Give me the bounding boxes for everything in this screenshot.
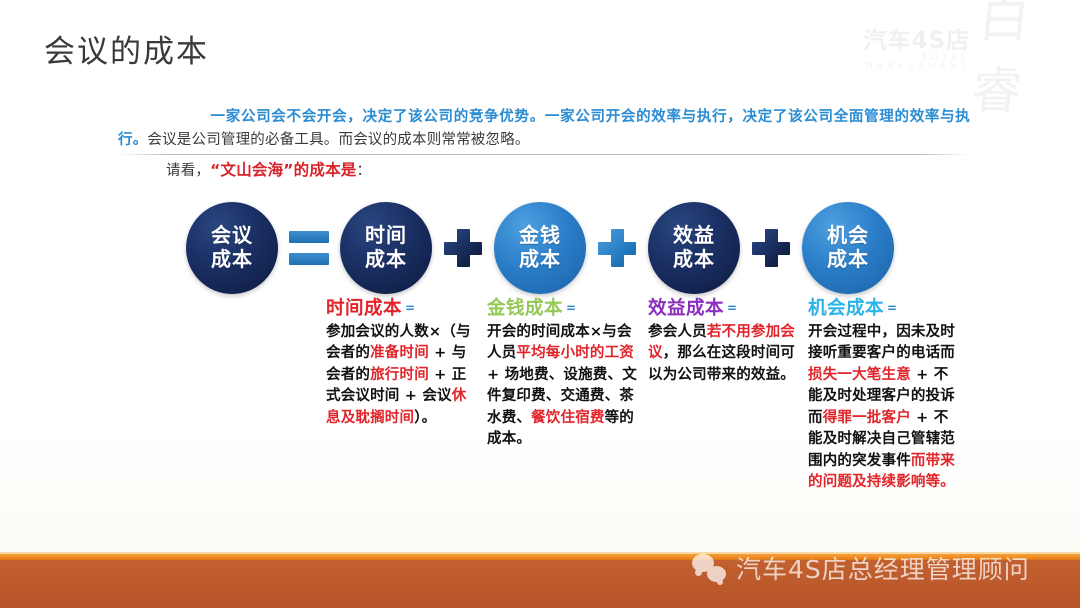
circle-benefit-cost[interactable]: 效益 成本 [648,202,740,294]
column-opportunity-cost-equals: = [887,301,898,315]
circle-meeting-cost[interactable]: 会议 成本 [186,202,278,294]
intro-highlight-1: 一家公司会不会开会，决定了该公司的竞争优势。一家公司开会的效率与执行，决定了 [210,109,788,125]
circle-money-cost-line2: 成本 [519,248,561,272]
column-benefit-cost-body: 参会人员若不用参加会议，那么在这段时间可以为公司带来的效益。 [648,324,795,383]
circle-opportunity-cost-line2: 成本 [827,248,869,272]
plus-sign-2 [586,202,648,294]
column-segment: 得罪一批客户 [823,410,911,426]
column-money-cost-heading-text: 金钱成本 [487,298,563,319]
circle-opportunity-cost[interactable]: 机会 成本 [802,202,894,294]
column-segment: ）。 [414,410,436,426]
intro-plain-1: 会议是公司管理的必备工具。而会议的成本则常常被忽略。 [147,132,529,148]
column-money-cost-heading: 金钱成本= [487,298,639,320]
intro-line-2: 请看，“文山会海”的成本是： [118,159,970,183]
equals-icon [289,231,329,265]
column-opportunity-cost-heading: 机会成本= [808,298,960,320]
intro-line2-lead: 请看， [166,163,210,179]
plus-sign-3 [740,202,802,294]
cost-equation-row: 会议 成本 时间 成本 金钱 成本 效益 成本 机会 成本 [0,196,1080,300]
column-benefit-cost-heading: 效益成本= [648,298,800,320]
footer-band [0,560,1080,608]
circle-meeting-cost-line1: 会议 [211,224,253,248]
intro-line2-quote: “文山会海”的成本是 [210,161,356,179]
circle-money-cost-line1: 金钱 [519,224,561,248]
circle-opportunity-cost-line1: 机会 [827,224,869,248]
plus-sign-1 [432,202,494,294]
column-segment: 参会人员 [648,324,707,340]
intro-paragraph: 一家公司会不会开会，决定了该公司的竞争优势。一家公司开会的效率与执行，决定了该公… [118,106,970,183]
column-opportunity-cost: 机会成本= 开会过程中，因未及时接听重要客户的电话而损失一大笔生意 + 不能及时… [808,298,960,494]
intro-divider [118,154,970,155]
column-money-cost-equals: = [566,301,577,315]
plus-icon-1 [444,229,482,267]
column-benefit-cost-equals: = [727,301,738,315]
circle-time-cost-line2: 成本 [365,248,407,272]
column-segment: 平均每小时的工资 [516,345,634,361]
plus-icon-2 [598,229,636,267]
column-segment: 旅行时间 [370,367,429,383]
brand-watermark-sub: TOTAL MANAGEMENT [822,54,970,73]
column-opportunity-cost-heading-text: 机会成本 [808,298,884,319]
column-time-cost-heading-text: 时间成本 [326,298,402,319]
circle-money-cost[interactable]: 金钱 成本 [494,202,586,294]
slide-root: 会议的成本 汽车4S店 TOTAL MANAGEMENT 白睿 一家公司会不会开… [0,0,1080,608]
circle-time-cost-line1: 时间 [365,224,407,248]
column-time-cost-equals: = [405,301,416,315]
circle-time-cost[interactable]: 时间 成本 [340,202,432,294]
column-opportunity-cost-body: 开会过程中，因未及时接听重要客户的电话而损失一大笔生意 + 不能及时处理客户的投… [808,324,955,491]
circle-benefit-cost-line1: 效益 [673,224,715,248]
cost-detail-columns: 时间成本= 参加会议的人数×（与会者的准备时间 + 与会者的旅行时间 + 正式会… [0,298,1080,578]
circle-meeting-cost-line2: 成本 [211,248,253,272]
column-segment: 准备时间 [370,345,429,361]
column-time-cost-heading: 时间成本= [326,298,478,320]
column-money-cost: 金钱成本= 开会的时间成本×与会人员平均每小时的工资 + 场地费、设施费、文件复… [487,298,639,451]
column-segment: 餐饮住宿费 [531,410,605,426]
column-money-cost-body: 开会的时间成本×与会人员平均每小时的工资 + 场地费、设施费、文件复印费、交通费… [487,324,637,448]
brand-watermark: 汽车4S店 TOTAL MANAGEMENT 白睿 [822,12,1072,90]
plus-icon-3 [752,229,790,267]
brand-watermark-calligraphy: 白睿 [968,0,1079,123]
page-title: 会议的成本 [44,26,209,71]
column-time-cost: 时间成本= 参加会议的人数×（与会者的准备时间 + 与会者的旅行时间 + 正式会… [326,298,478,429]
brand-watermark-cn: 汽车4S店 TOTAL MANAGEMENT [822,29,970,72]
column-benefit-cost: 效益成本= 参会人员若不用参加会议，那么在这段时间可以为公司带来的效益。 [648,298,800,386]
column-time-cost-body: 参加会议的人数×（与会者的准备时间 + 与会者的旅行时间 + 正式会议时间 + … [326,324,471,426]
circle-benefit-cost-line2: 成本 [673,248,715,272]
column-segment: 开会过程中，因未及时接听重要客户的电话而 [808,324,955,362]
brand-watermark-cn-text: 汽车4S店 [822,29,970,53]
equals-sign [278,202,340,294]
column-benefit-cost-heading-text: 效益成本 [648,298,724,319]
intro-line2-tail: ： [356,163,371,179]
slide-header: 会议的成本 汽车4S店 TOTAL MANAGEMENT 白睿 [0,0,1080,86]
column-segment: 损失一大笔生意 [808,367,911,383]
column-segment: ，那么在这段时间可以为公司带来的效益。 [648,345,795,383]
